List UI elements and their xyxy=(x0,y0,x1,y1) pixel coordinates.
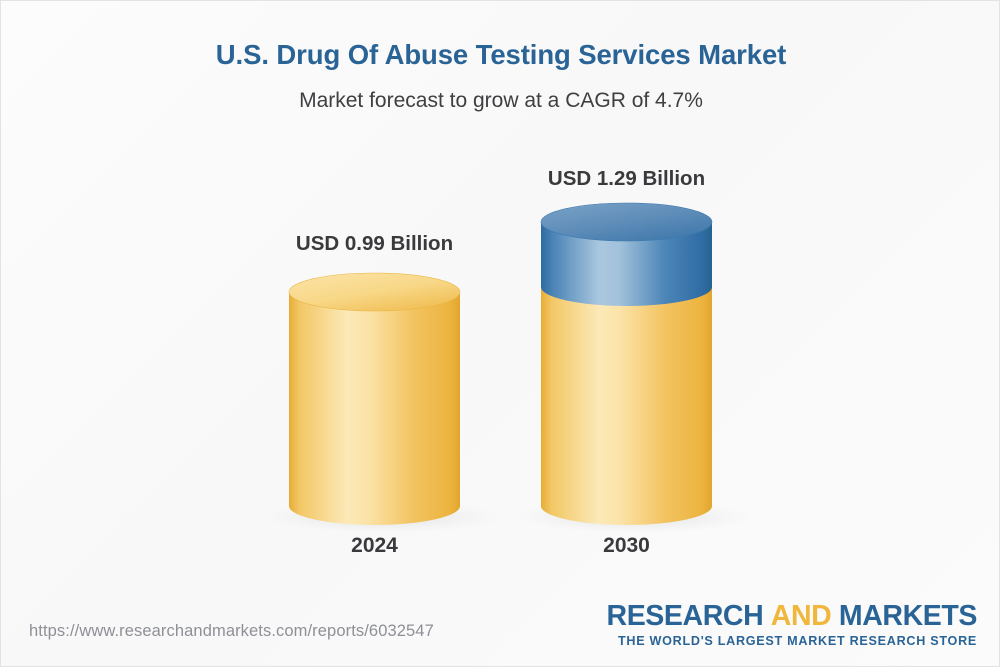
bar-2024 xyxy=(289,273,460,525)
logo-tagline: THE WORLD'S LARGEST MARKET RESEARCH STOR… xyxy=(607,634,977,648)
bar-category-label-2030: 2030 xyxy=(541,534,712,558)
infographic-canvas: U.S. Drug Of Abuse Testing Services Mark… xyxy=(0,0,1000,667)
logo-word-and-text: AND xyxy=(771,600,832,632)
bar-value-label-2030: USD 1.29 Billion xyxy=(541,167,712,191)
bar-2030 xyxy=(541,203,712,525)
bar-2024-body xyxy=(289,292,460,525)
logo-word-spacer xyxy=(831,600,839,632)
logo-word-and xyxy=(763,600,771,632)
research-and-markets-logo: RESEARCH AND MARKETS THE WORLD'S LARGEST… xyxy=(607,602,977,648)
bar-category-label-2024: 2024 xyxy=(289,534,460,558)
chart-cylinders xyxy=(1,1,1000,601)
bar-2030-base-segment xyxy=(541,287,712,525)
bar-2030-top-cap xyxy=(541,203,712,241)
bar-2024-top-cap xyxy=(289,273,460,311)
logo-wordmark: RESEARCH AND MARKETS xyxy=(607,602,977,631)
bar-value-label-2024: USD 0.99 Billion xyxy=(289,232,460,256)
cylinder-bar-chart: USD 0.99 Billion USD 1.29 Billion 2024 2… xyxy=(1,1,1000,601)
logo-word-markets: MARKETS xyxy=(839,600,977,632)
logo-word-research: RESEARCH xyxy=(607,600,764,632)
source-url[interactable]: https://www.researchandmarkets.com/repor… xyxy=(29,622,434,641)
